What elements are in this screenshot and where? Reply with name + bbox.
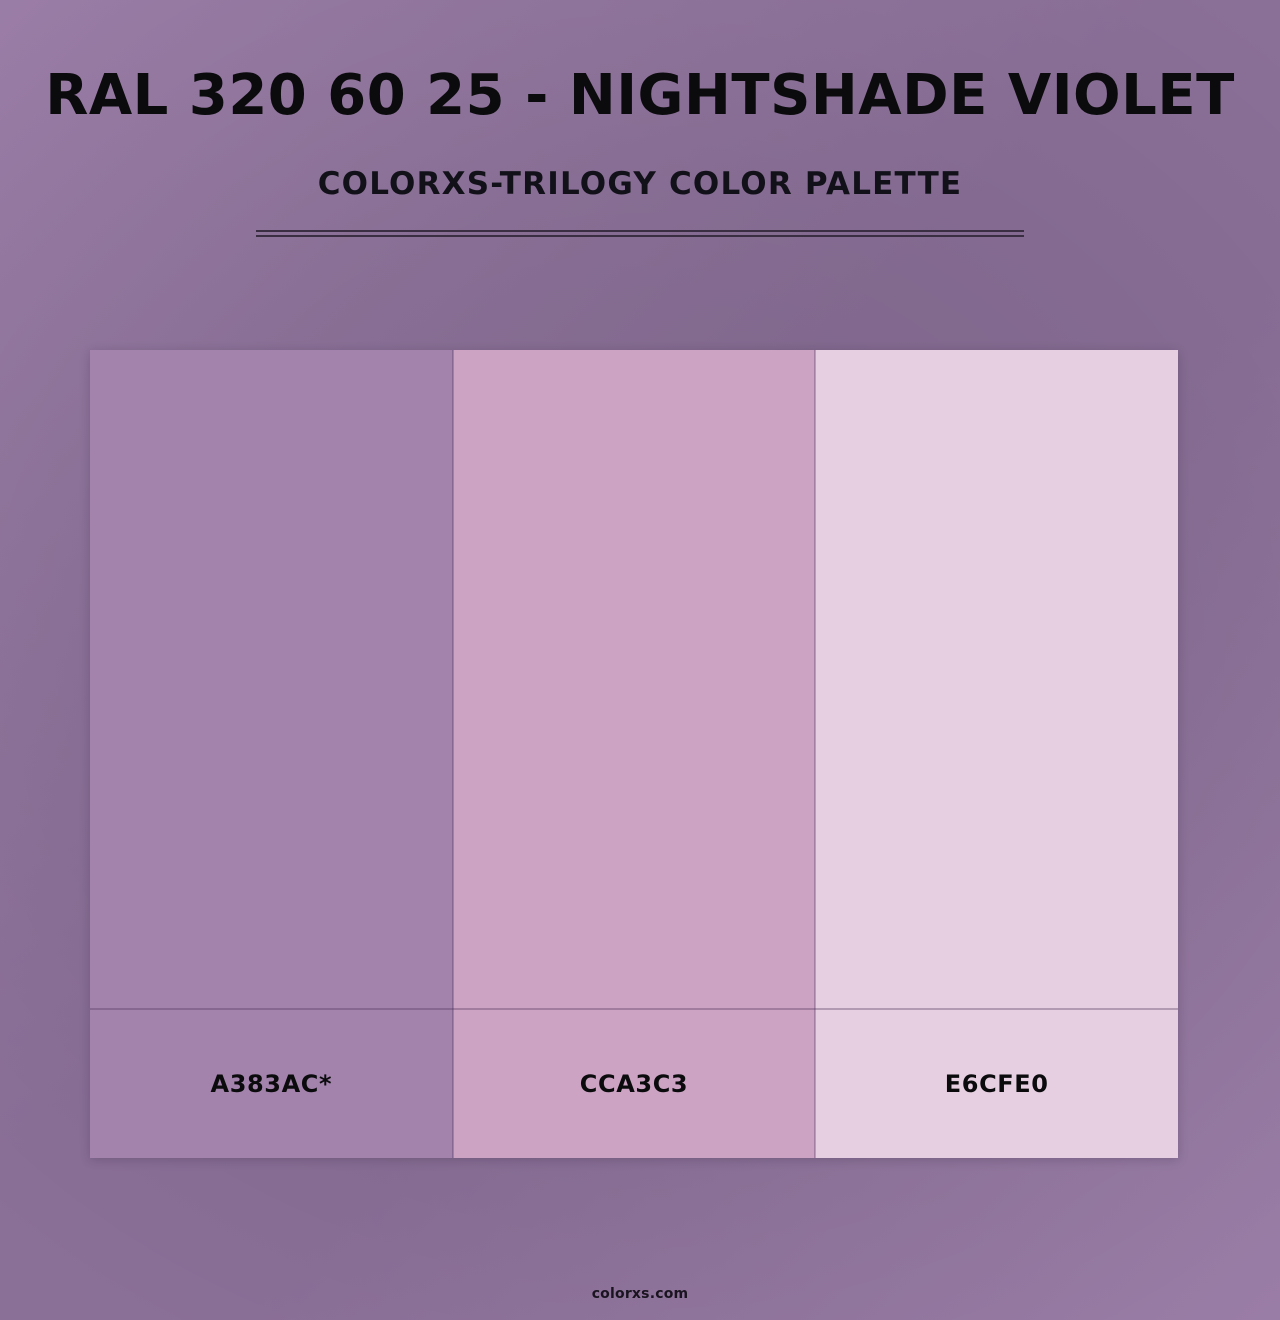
color-label-cell-1: A383AC* xyxy=(90,1008,453,1158)
header-divider xyxy=(256,230,1024,237)
palette-strip: A383AC* CCA3C3 E6CFE0 xyxy=(90,350,1178,1158)
page-footer: colorxs.com xyxy=(0,1285,1280,1303)
color-hex-label-1: A383AC* xyxy=(211,1070,333,1098)
color-palette-page: RAL 320 60 25 - NIGHTSHADE VIOLET COLORX… xyxy=(0,0,1280,1320)
swatch-column-3[interactable]: E6CFE0 xyxy=(815,350,1178,1158)
color-swatch-2[interactable] xyxy=(453,350,816,1008)
page-title: RAL 320 60 25 - NIGHTSHADE VIOLET xyxy=(0,68,1280,124)
swatch-column-2[interactable]: CCA3C3 xyxy=(453,350,816,1158)
swatch-column-1[interactable]: A383AC* xyxy=(90,350,453,1158)
color-swatch-3[interactable] xyxy=(815,350,1178,1008)
color-hex-label-2: CCA3C3 xyxy=(580,1070,688,1098)
color-label-cell-2: CCA3C3 xyxy=(453,1008,816,1158)
color-swatch-1[interactable] xyxy=(90,350,453,1008)
color-label-cell-3: E6CFE0 xyxy=(815,1008,1178,1158)
site-name: colorxs.com xyxy=(592,1286,689,1302)
color-hex-label-3: E6CFE0 xyxy=(945,1070,1049,1098)
page-header: RAL 320 60 25 - NIGHTSHADE VIOLET COLORX… xyxy=(0,0,1280,237)
page-subtitle: COLORXS-TRILOGY COLOR PALETTE xyxy=(0,166,1280,202)
